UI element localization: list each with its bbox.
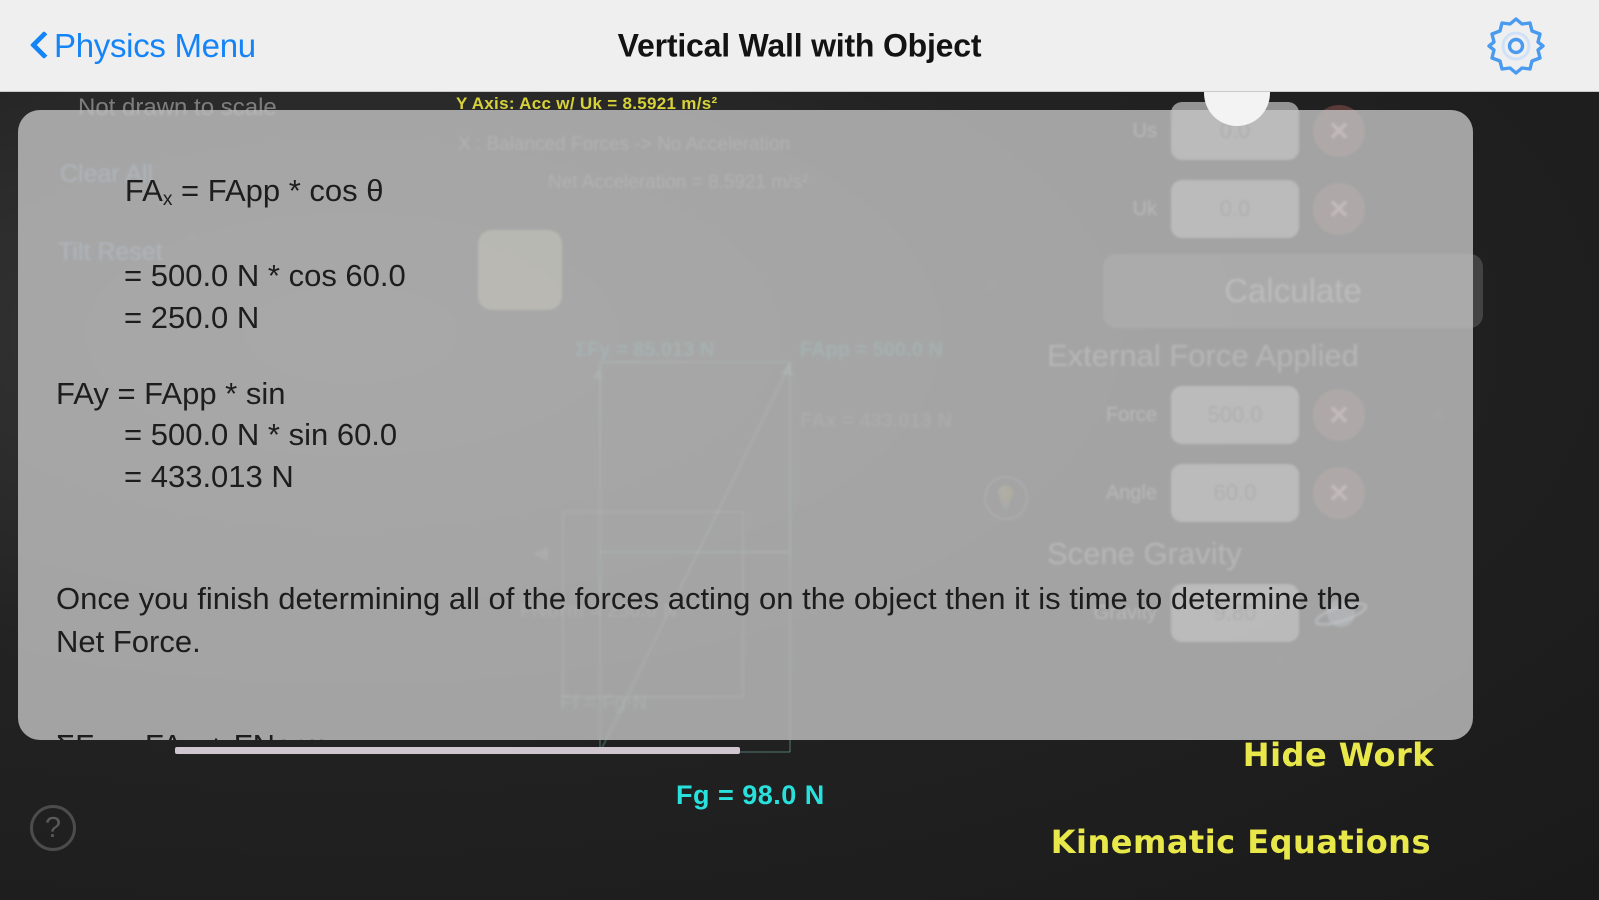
work-cut-line: ΣFx = FAx + FNorm... [56, 728, 354, 740]
app-root: Physics Menu Vertical Wall with Object Y… [0, 0, 1599, 900]
work-line-4: FAy = FApp * sin [56, 373, 1426, 415]
work-content: FAx = FApp * cos θ = 500.0 N * cos 60.0 … [56, 110, 1426, 740]
work-paragraph-1: Once you finish determining all of the f… [56, 578, 1386, 664]
navigation-bar: Physics Menu Vertical Wall with Object [0, 0, 1599, 92]
hide-work-button[interactable]: Hide Work [1243, 736, 1434, 774]
work-line-3: = 250.0 N [56, 297, 1426, 339]
gear-icon[interactable] [1485, 15, 1547, 77]
kinematic-equations-button[interactable]: Kinematic Equations [1051, 823, 1431, 861]
work-line-6: = 433.013 N [56, 456, 1426, 498]
question-mark-icon[interactable]: ? [30, 805, 76, 851]
work-line-5: = 500.0 N * sin 60.0 [56, 414, 1426, 456]
fg-label: Fg = 98.0 N [676, 780, 825, 811]
work-line-2: = 500.0 N * cos 60.0 [56, 255, 1426, 297]
ground-line [175, 747, 740, 754]
page-title: Vertical Wall with Object [0, 27, 1599, 64]
work-line-1: FAx = FApp * cos θ [56, 128, 1426, 255]
work-overlay-panel[interactable]: FAx = FApp * cos θ = 500.0 N * cos 60.0 … [18, 110, 1473, 740]
